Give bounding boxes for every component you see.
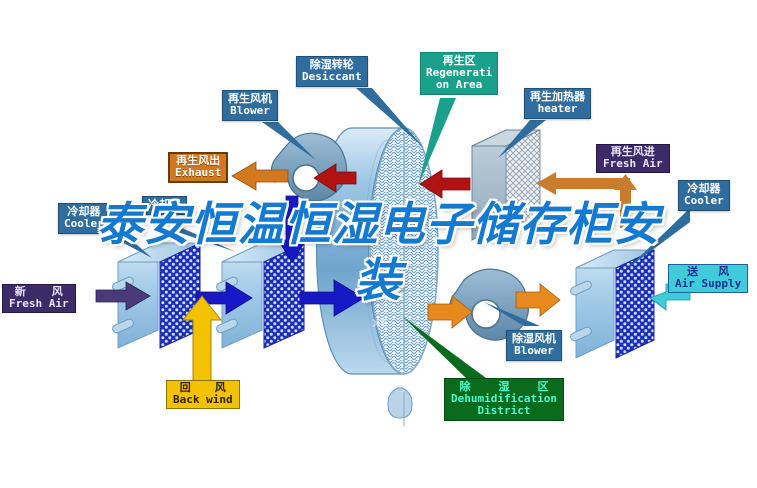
label-regen-fresh-air-en: Fresh Air <box>603 158 663 170</box>
label-cooler-right[interactable]: 冷却器 Cooler <box>678 180 730 211</box>
label-fresh-air[interactable]: 新风 Fresh Air <box>2 284 76 313</box>
regen-blower-fan <box>271 133 346 201</box>
label-regen-fresh-air[interactable]: 再生风进 Fresh Air <box>596 144 670 173</box>
arrow-blower-out <box>516 284 560 316</box>
label-regen-heater-en: heater <box>530 103 585 115</box>
ghost-watermark-mark: xt <box>372 316 387 331</box>
label-dehum-blower[interactable]: 除湿风机 Blower <box>506 330 562 361</box>
arrow-wheel-out <box>428 296 472 328</box>
label-back-wind[interactable]: 回风 Back wind <box>166 380 240 409</box>
label-air-supply[interactable]: 送风 Air Supply <box>668 264 748 293</box>
arrow-process-1 <box>196 282 252 314</box>
label-desiccant[interactable]: 除湿转轮 Desiccant <box>296 56 368 87</box>
label-cooler-left-en: Cooler <box>64 218 104 230</box>
label-cooler-left[interactable]: 冷却器 Cooler <box>58 203 110 234</box>
label-regen-blower[interactable]: 再生风机 Blower <box>222 90 278 121</box>
arrow-exhaust-out <box>232 162 288 190</box>
label-regen-area[interactable]: 再生区 Regenerati on Area <box>420 52 498 95</box>
label-cooler-mid-cn: 冷却器 <box>148 199 181 211</box>
label-regen-area-en2: on Area <box>426 79 492 91</box>
arrow-regen-hot <box>420 170 470 198</box>
arrow-regen-exit <box>314 164 356 192</box>
arrow-fresh-air-in <box>96 282 150 310</box>
dehumidifier-process-diagram: 除湿转轮 Desiccant 再生风机 Blower 再生风出 Exhaust … <box>0 0 757 488</box>
label-dehum-district-en1: Dehumidification <box>451 393 557 405</box>
label-desiccant-en: Desiccant <box>302 71 362 83</box>
watermark-title: 泰安恒温恒湿电子储存柜安 装 <box>0 196 757 308</box>
desiccant-wheel <box>317 128 438 426</box>
arrow-cooler-down <box>278 196 306 262</box>
cooler-unit-3 <box>569 250 654 358</box>
cooler-unit-1 <box>111 243 200 348</box>
label-back-wind-en: Back wind <box>173 394 233 406</box>
label-regen-heater[interactable]: 再生加热器 heater <box>524 88 591 119</box>
arrow-process-2 <box>300 280 364 316</box>
label-regen-area-en1: Regenerati <box>426 67 492 79</box>
label-dehum-district-en2: District <box>451 405 557 417</box>
arrow-back-wind-up <box>183 296 221 384</box>
label-fresh-air-en: Fresh Air <box>9 298 69 310</box>
label-cooler-mid[interactable]: 冷却器 <box>142 196 187 215</box>
regen-heater <box>472 130 540 240</box>
label-exhaust[interactable]: 再生风出 Exhaust <box>168 152 228 183</box>
label-exhaust-en: Exhaust <box>175 167 221 179</box>
arrow-regen-in <box>536 172 637 228</box>
label-cooler-right-en: Cooler <box>684 195 724 207</box>
watermark-line-1: 泰安恒温恒湿电子储存柜安 <box>0 196 757 252</box>
label-air-supply-en: Air Supply <box>675 278 741 290</box>
cooler-unit-2 <box>215 243 304 348</box>
diagram-artwork <box>0 0 757 488</box>
label-dehum-blower-en: Blower <box>512 345 556 357</box>
label-regen-blower-en: Blower <box>228 105 272 117</box>
watermark-line-2: 装 <box>0 252 757 308</box>
label-dehum-district[interactable]: 除湿区 Dehumidification District <box>444 378 564 421</box>
callout-leaders <box>112 88 690 378</box>
